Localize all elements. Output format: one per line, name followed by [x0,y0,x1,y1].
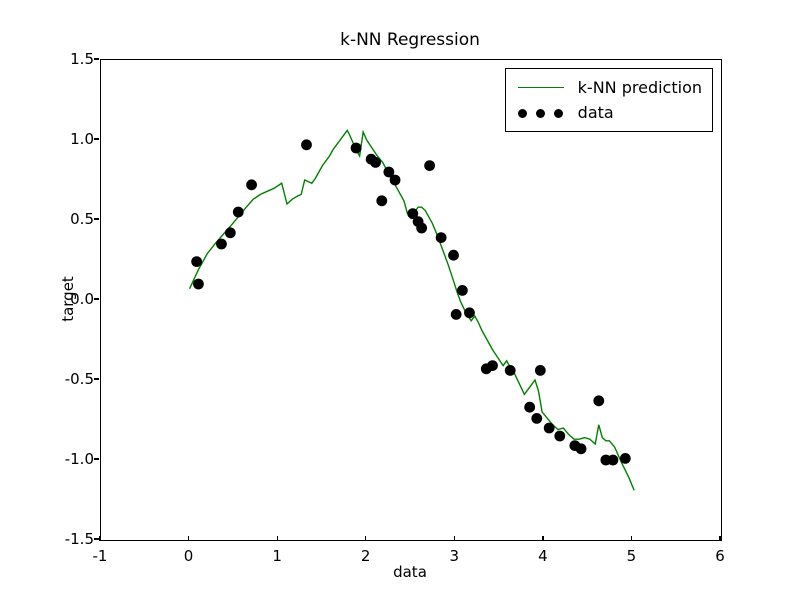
data-scatter-points [191,139,630,465]
marker-swatch-icon [514,103,568,123]
x-axis-ticks: -10123456 [100,541,720,565]
data-point [448,250,459,261]
x-tick-mark [454,536,455,541]
legend: k-NN prediction data [505,68,713,132]
x-axis-label: data [100,563,720,581]
matplotlib-figure: k-NN Regression k-NN prediction data 1.5… [0,0,800,600]
data-point [216,239,227,250]
legend-label-prediction: k-NN prediction [578,78,702,97]
chart-title: k-NN Regression [100,30,720,50]
y-tick-mark [94,218,99,219]
data-point [191,256,202,267]
data-point [487,360,498,371]
y-tick-mark [94,138,99,139]
y-axis-label: target [59,276,77,322]
legend-item-prediction: k-NN prediction [514,75,702,100]
data-point [464,307,475,318]
x-tick-mark [188,536,189,541]
data-point [576,443,587,454]
data-point [593,395,604,406]
line-swatch-icon [518,87,564,89]
y-tick-label: 1.0 [50,130,94,148]
data-point [531,413,542,424]
x-tick-mark [631,536,632,541]
data-point [193,279,204,290]
data-point [554,431,565,442]
y-tick-label: -0.5 [50,370,94,388]
y-tick-mark [94,298,99,299]
legend-marker-dot [554,109,563,118]
data-point [457,285,468,296]
data-point [376,195,387,206]
data-point [524,402,535,413]
data-point [620,453,631,464]
legend-key-line [514,78,568,98]
legend-marker-dot [518,109,527,118]
data-point [544,423,555,434]
data-point [535,365,546,376]
data-point [451,309,462,320]
legend-marker-dot [536,109,545,118]
y-tick-label: 1.5 [50,50,94,68]
y-tick-label: -1.5 [50,530,94,548]
y-tick-mark [94,378,99,379]
plot-canvas [101,60,721,540]
y-tick-label: -1.0 [50,450,94,468]
data-point [301,139,312,150]
legend-item-data: data [514,100,702,125]
data-point [608,455,619,466]
data-point [370,157,381,168]
data-point [246,179,257,190]
x-tick-mark [277,536,278,541]
y-tick-label: 0.5 [50,210,94,228]
legend-key-markers [514,103,568,123]
data-point [233,207,244,218]
y-tick-mark [94,538,99,539]
data-point [351,143,362,154]
data-point [436,232,447,243]
x-tick-mark [542,536,543,541]
y-tick-mark [94,58,99,59]
plot-area: k-NN prediction data [100,59,722,541]
data-point [225,227,236,238]
data-point [390,175,401,186]
legend-label-data: data [578,103,614,122]
data-point [424,160,435,171]
x-tick-mark [719,536,720,541]
y-tick-mark [94,458,99,459]
x-tick-mark [99,536,100,541]
data-point [505,365,516,376]
data-point [416,223,427,234]
x-tick-mark [365,536,366,541]
